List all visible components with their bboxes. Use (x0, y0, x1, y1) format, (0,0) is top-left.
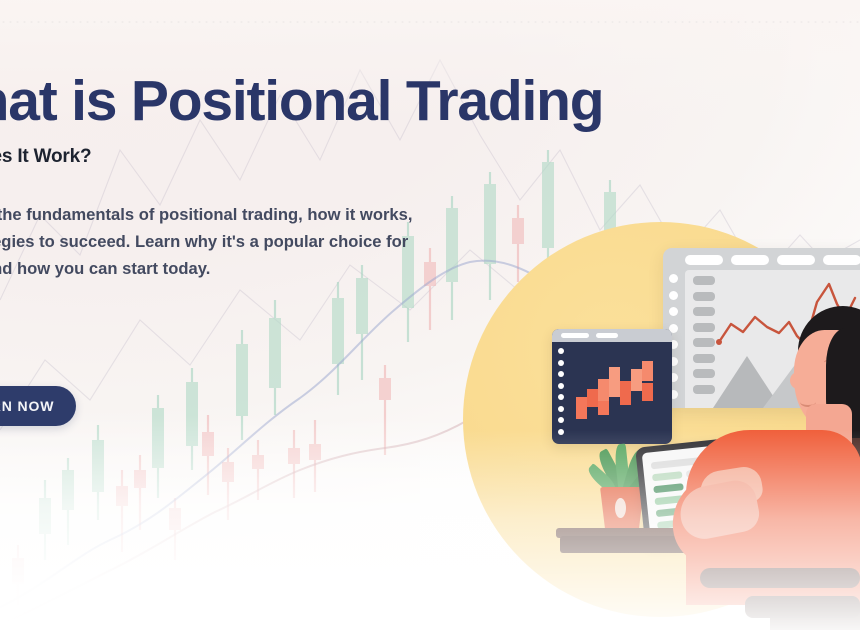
widget-title-bar (552, 329, 672, 342)
widget-dot-rail (558, 348, 564, 440)
hero-copy: What is Positional Trading How Does It W… (0, 72, 802, 283)
candlestick-widget-card (552, 329, 672, 444)
page-title: What is Positional Trading (0, 72, 802, 130)
hero-banner: What is Positional Trading How Does It W… (0, 0, 860, 630)
chair-seat (700, 568, 860, 588)
page-subtitle: How Does It Work? (0, 146, 802, 168)
hero-description: Discover the fundamentals of positional … (0, 202, 422, 283)
pixel-candlestick-graphic (576, 361, 653, 419)
chair-base (745, 596, 860, 618)
learn-now-button[interactable]: LEARN NOW (0, 386, 76, 426)
plant-pot (600, 487, 644, 531)
nose (790, 372, 806, 389)
